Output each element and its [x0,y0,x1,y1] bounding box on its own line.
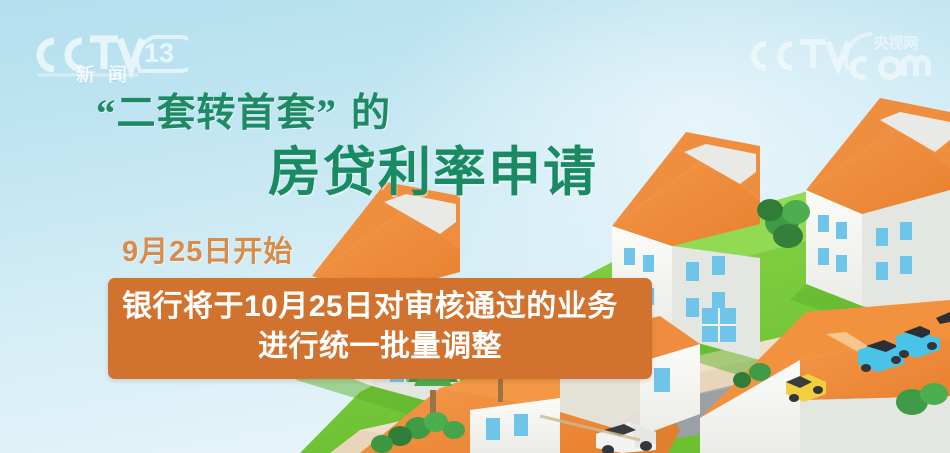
watermark-cn-label: 央视网 [873,34,918,52]
headline-line-1-tail: 的 [351,92,391,135]
banner-line-1: 银行将于10月25日对审核通过的业务 [122,287,638,327]
banner-line-2: 进行统一批量调整 [122,327,638,367]
close-quote: ” [317,92,338,135]
start-date-note: 9月25日开始 [122,228,293,270]
open-quote: “ [96,92,117,135]
info-banner: 银行将于10月25日对审核通过的业务 进行统一批量调整 [108,278,652,379]
news-graphic-stage: 13 新闻 央视网 “二套转首套”的 房贷利率申请 [0,0,950,453]
headline-line-2: 房贷利率申请 [0,143,680,202]
headline-keyword: 二套转首套 [117,92,317,135]
channel-subtitle: 新闻 [56,60,160,87]
headline-block: “二套转首套”的 房贷利率申请 [0,92,680,202]
cctv-com-watermark: 央视网 [744,28,934,80]
headline-line-1: “二套转首套”的 [0,92,680,137]
